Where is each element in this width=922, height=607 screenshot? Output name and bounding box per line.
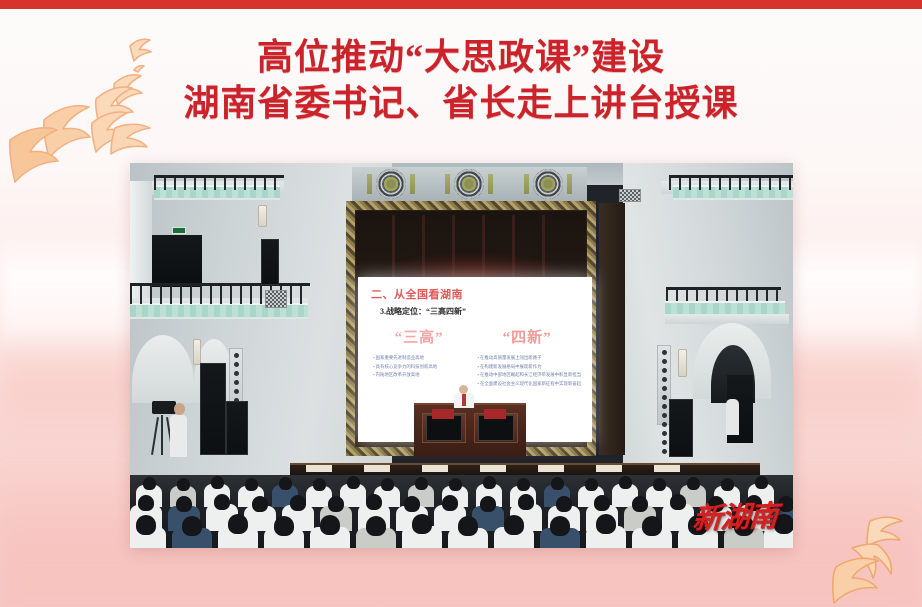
podium-nameplate — [432, 409, 454, 419]
lecturer-tie — [462, 394, 466, 406]
lecturer-head — [459, 385, 468, 394]
proscenium-medallion-band — [352, 167, 587, 201]
stage-lip-light — [422, 465, 448, 472]
slide-subheading: 3.战略定位：“三高四新” — [380, 306, 583, 317]
stage-lip-light — [654, 465, 680, 472]
wall-sconce — [258, 205, 267, 227]
stage-lip-light — [596, 465, 622, 472]
headline-line-2: 湖南省委书记、省长走上讲台授课 — [0, 80, 922, 126]
news-poster: 高位推动“大思政课”建设 湖南省委书记、省长走上讲台授课 — [0, 0, 922, 607]
wall-sconce — [678, 349, 687, 377]
medallion-icon — [533, 169, 563, 199]
list-item: 在推动中部地区崛起和长江经济带发展中彰显新担当 — [477, 371, 581, 380]
list-item: 在推动高质量发展上闯出新路子 — [477, 354, 581, 363]
left-upper-railing — [154, 175, 284, 190]
slide-column-title: “三高” — [367, 326, 471, 347]
page-title: 高位推动“大思政课”建设 湖南省委书记、省长走上讲台授课 — [0, 34, 922, 126]
right-wall — [623, 163, 793, 493]
tripod-leg — [161, 415, 163, 455]
stage-lip-light — [306, 465, 332, 472]
auditorium-photo: 二、从全国看湖南 3.战略定位：“三高四新” “三高” 国家重要先进制造业高地 … — [130, 163, 793, 548]
stage-lip-light — [480, 465, 506, 472]
left-column — [130, 181, 152, 299]
left-speaker-stack — [200, 363, 226, 455]
list-item: 内陆地区改革开放高地 — [373, 371, 469, 380]
brand-watermark: 新湖南 — [691, 493, 778, 538]
camera-operator-head — [174, 403, 185, 415]
slide-bullet-list: 国家重要先进制造业高地 具有核心竞争力的科技创新高地 内陆地区改革开放高地 — [367, 354, 471, 380]
wall-vent — [265, 290, 287, 308]
standing-person — [726, 399, 739, 435]
headline-line-1: 高位推动“大思政课”建设 — [0, 34, 922, 80]
left-doorway — [152, 235, 202, 287]
list-item: 在全面建设社会主义现代化国家新征程中实现新奋起 — [477, 380, 581, 389]
list-item: 在构建新发展格局中展现新作为 — [477, 363, 581, 372]
wall-sconce — [193, 339, 201, 365]
video-camera-icon — [152, 401, 176, 414]
lecturer — [454, 385, 474, 407]
wall-vent — [619, 189, 641, 202]
right-upper-railing — [669, 175, 793, 190]
camera-operator-body — [170, 415, 187, 457]
slide-columns: “三高” 国家重要先进制造业高地 具有核心竞争力的科技创新高地 内陆地区改革开放… — [367, 326, 583, 388]
slide-heading: 二、从全国看湖南 — [371, 286, 583, 302]
top-accent-bar — [0, 0, 922, 9]
exit-sign — [172, 227, 186, 234]
medallion-icon — [376, 169, 406, 199]
slide-column-sangao: “三高” 国家重要先进制造业高地 具有核心竞争力的科技创新高地 内陆地区改革开放… — [367, 326, 471, 388]
flying-birds-icon — [798, 515, 918, 605]
slide-column-title: “四新” — [471, 326, 583, 347]
stage-lip-light — [538, 465, 564, 472]
slide-bullet-list: 在推动高质量发展上闯出新路子 在构建新发展格局中展现新作为 在推动中部地区崛起和… — [471, 354, 583, 388]
podium-nameplate — [484, 409, 506, 419]
right-stage-edge-wall — [599, 203, 625, 455]
slide-column-sixin: “四新” 在推动高质量发展上闯出新路子 在构建新发展格局中展现新作为 在推动中部… — [471, 326, 583, 388]
left-hanging-speaker — [261, 239, 279, 285]
stage-lip-light — [364, 465, 390, 472]
right-speaker-stack — [669, 399, 693, 457]
list-item: 具有核心竞争力的科技创新高地 — [373, 363, 469, 372]
left-stage-monitor — [226, 401, 248, 455]
list-item: 国家重要先进制造业高地 — [373, 354, 469, 363]
medallion-icon — [454, 169, 484, 199]
